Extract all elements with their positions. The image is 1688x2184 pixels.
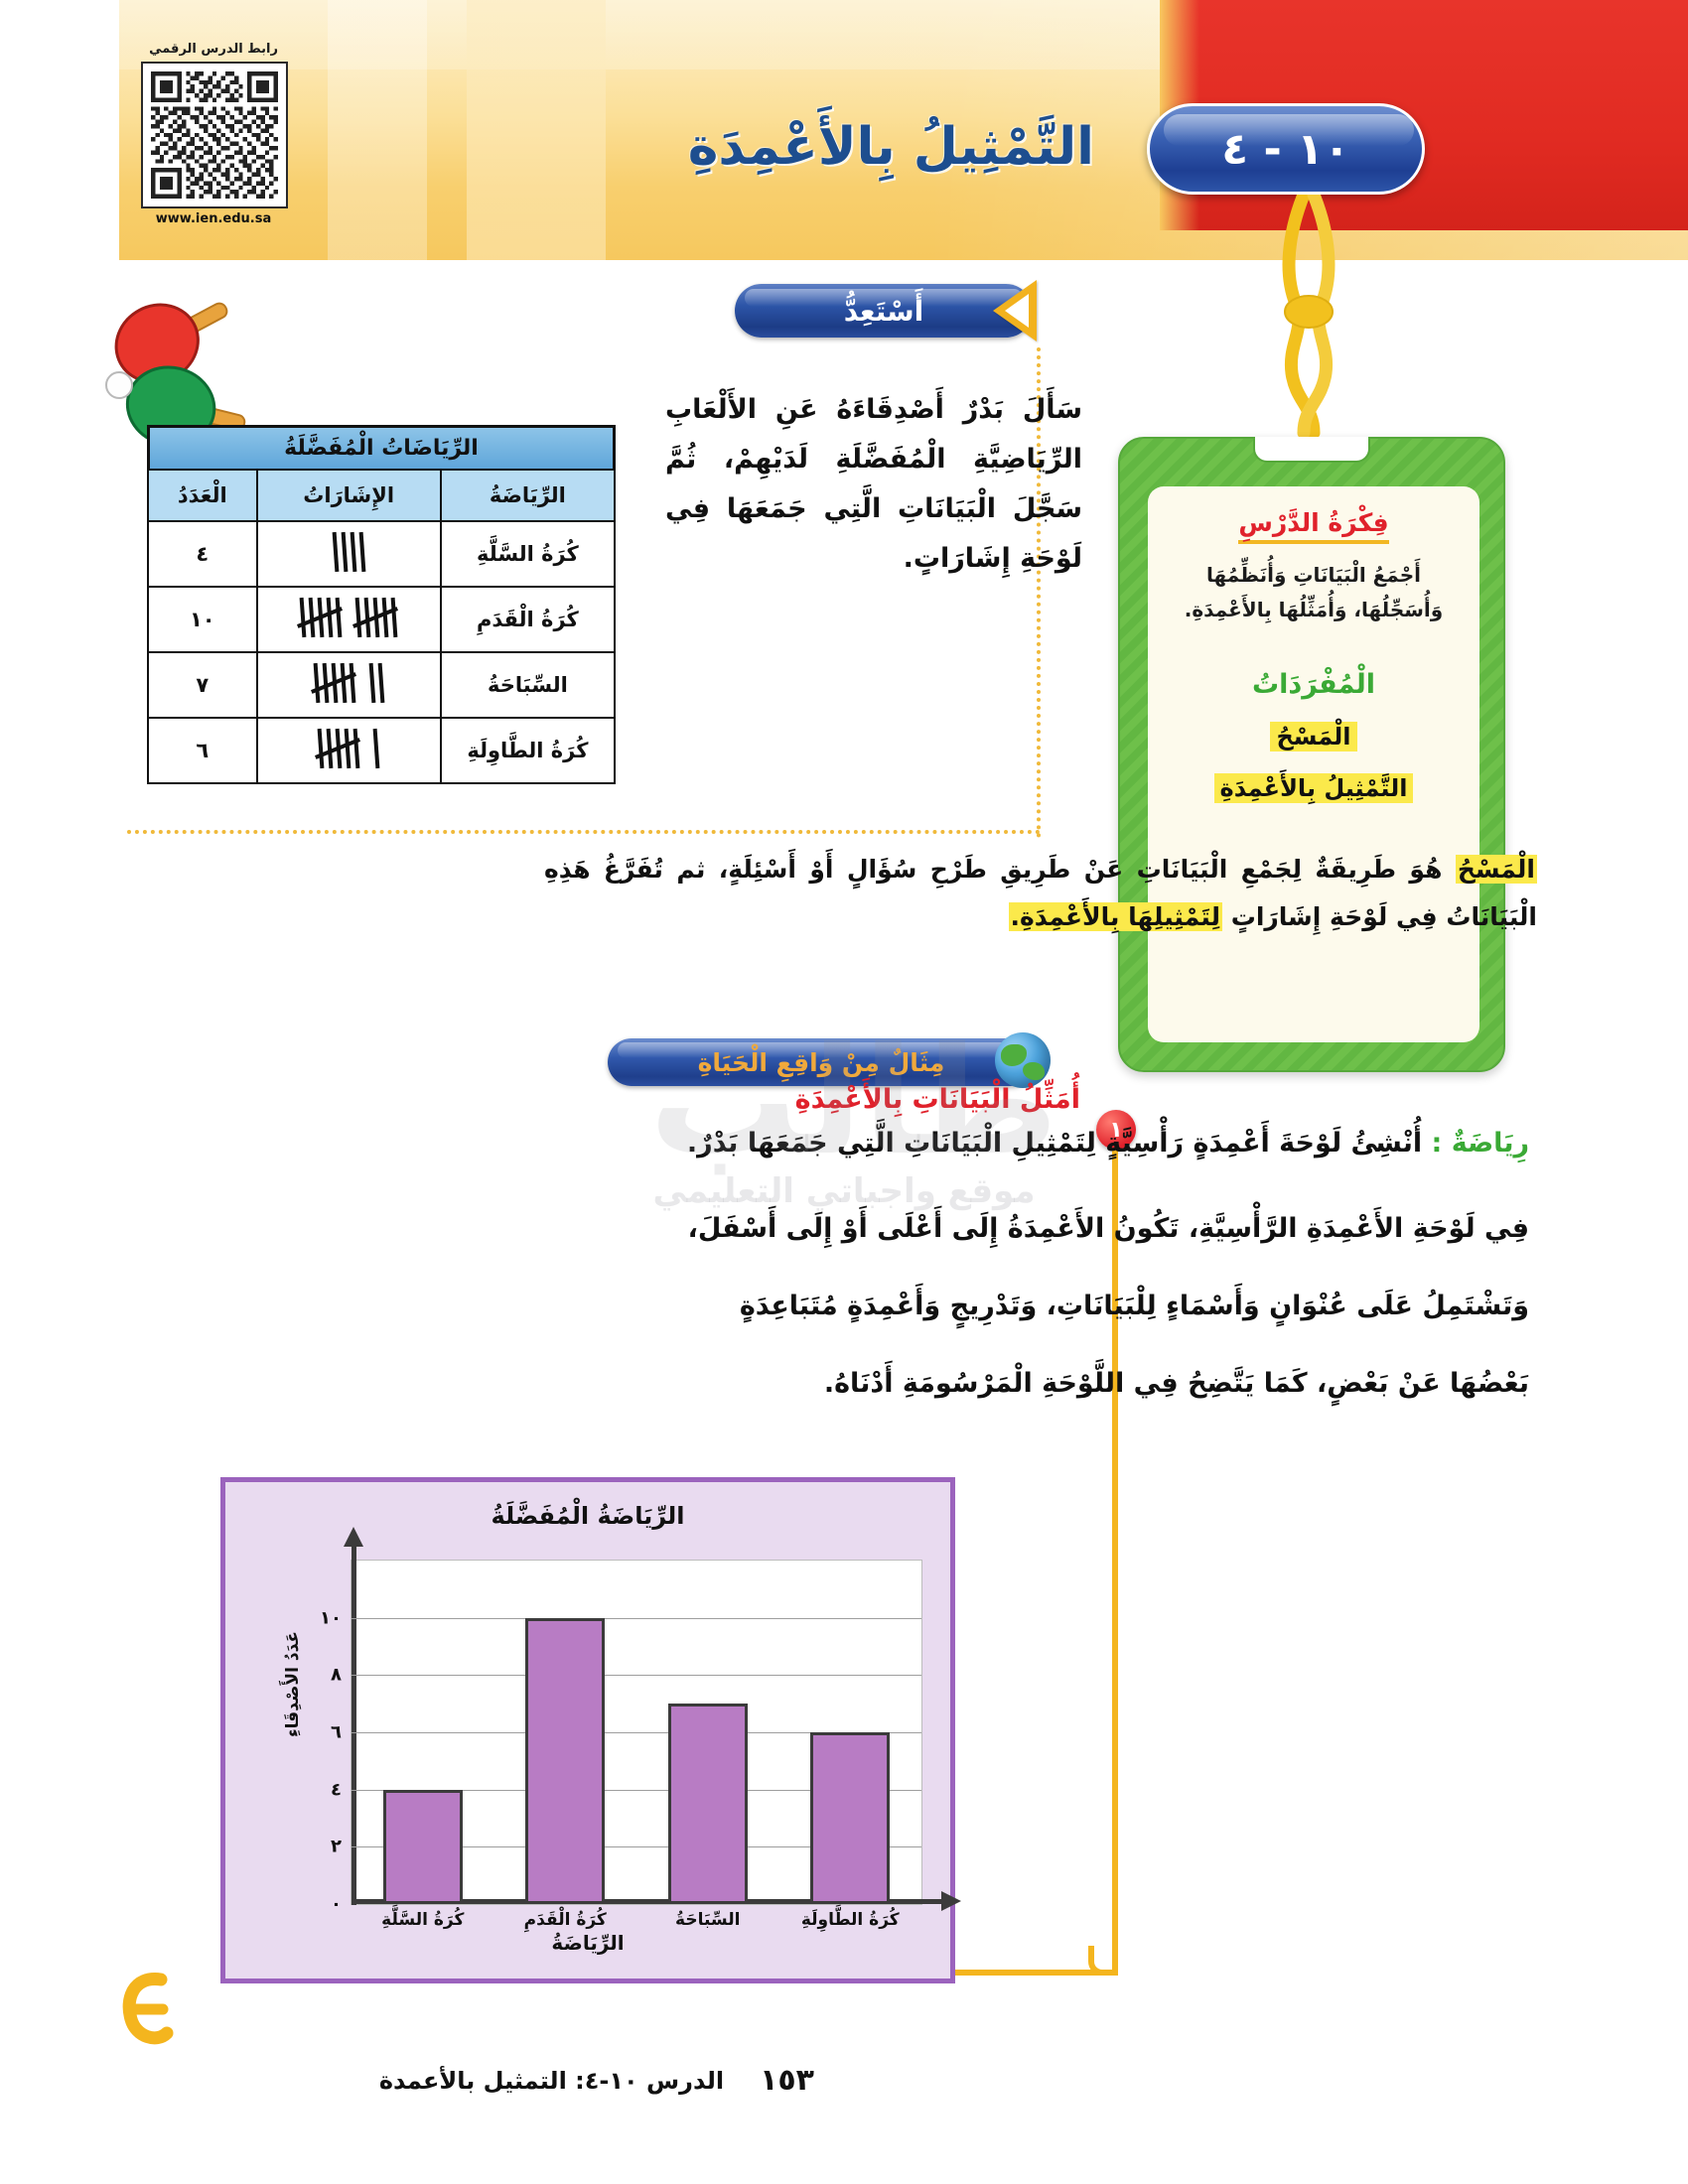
chart-x-tick-label: كُرَةُ الْقَدَمِ <box>524 1910 607 1930</box>
table-row: كُرَةُ الْقَدَمِ١٠ <box>148 587 615 652</box>
table-row: كُرَةُ السَّلَّةِ٤ <box>148 521 615 587</box>
prepare-paragraph: سَأَلَ بَدْرٌ أَصْدِقَاءَهُ عَنِ الأَلْع… <box>665 385 1082 584</box>
chart-bar <box>810 1732 890 1904</box>
table-row: كُرَةُ الطَّاوِلَةِ٦ <box>148 718 615 783</box>
chart-y-axis-label: عَدَدُ الأَصْدِقَاءِ <box>283 1631 303 1737</box>
footer-lesson-text: الدرس ١٠-٤: التمثيل بالأعمدة <box>379 2067 724 2095</box>
table-row: السِّبَاحَةُ٧ <box>148 652 615 718</box>
chart-y-tick-label: ٦ <box>331 1722 342 1743</box>
chart-y-tick-label-zero: ٠ <box>331 1894 342 1915</box>
table-cell-count: ٧ <box>148 652 257 718</box>
qr-code-box[interactable] <box>141 62 288 208</box>
survey-term-highlight: الْمَسْحُ <box>1456 855 1537 884</box>
digital-lesson-link[interactable]: رابط الدرس الرقمي <box>139 42 288 226</box>
globe-icon <box>995 1032 1051 1088</box>
chart-bar <box>668 1704 748 1904</box>
table-header-count: الْعَدَدُ <box>148 470 257 521</box>
qr-code-icon <box>151 71 278 199</box>
rope-hanger-icon <box>1274 195 1343 463</box>
table-header-sport: الرِّيَاضَةُ <box>441 470 615 521</box>
chart-y-axis <box>352 1545 356 1905</box>
table-cell-tally <box>257 718 441 783</box>
chart-bar <box>383 1790 463 1904</box>
table-cell-tally <box>257 521 441 587</box>
table-cell-sport: كُرَةُ الطَّاوِلَةِ <box>441 718 615 783</box>
example-line-1-text: أُنْشِئُ لَوْحَةَ أَعْمِدَةٍ رَأْسِيَّةٍ… <box>687 1128 1422 1159</box>
page-title: التَّمْثِيلُ بِالأَعْمِدَةِ <box>688 117 1094 177</box>
real-life-example-banner: مِثَالٌ مِنْ وَاقِعِ الْحَيَاةِ <box>608 1038 1035 1086</box>
prepare-arrow-inner-icon <box>1005 294 1029 328</box>
lesson-idea-heading: فِكْرَةُ الدَّرْسِ <box>1238 508 1388 544</box>
chart-y-tick-label: ٨ <box>331 1665 342 1686</box>
lesson-number-text: ١٠ - ٤ <box>1221 124 1349 175</box>
table-body: كُرَةُ السَّلَّةِ٤كُرَةُ الْقَدَمِ١٠السِ… <box>148 521 615 783</box>
favorite-sports-table: الرِّيَاضَاتُ الْمُفَضَّلَةُ الرِّيَاضَة… <box>147 425 616 784</box>
example-connector-line <box>1112 1150 1118 1976</box>
table-cell-count: ٦ <box>148 718 257 783</box>
real-life-example-label: مِثَالٌ مِنْ وَاقِعِ الْحَيَاةِ <box>698 1048 945 1077</box>
chart-title: الرِّيَاضَةُ الْمُفَضَّلَةُ <box>225 1502 950 1530</box>
chart-y-tick-label: ١٠ <box>320 1607 342 1628</box>
survey-bargraph-highlight: لِتَمْثِيلِهَا بِالأَعْمِدَةِ. <box>1009 902 1223 931</box>
example-line-1: رِيَاضَةٌ : أُنْشِئُ لَوْحَةَ أَعْمِدَةٍ… <box>606 1118 1529 1170</box>
table-cell-count: ١٠ <box>148 587 257 652</box>
table-element: الرِّيَاضَةُ الإِشَارَاتُ الْعَدَدُ كُرَ… <box>147 469 616 784</box>
page-number: ١٥٣ <box>760 2063 814 2098</box>
chart-x-tick-label: كُرَةُ السَّلَّةِ <box>381 1910 464 1930</box>
table-header-row: الرِّيَاضَةُ الإِشَارَاتُ الْعَدَدُ <box>148 470 615 521</box>
chart-bar <box>525 1618 605 1904</box>
chart-x-tick-label: كُرَةُ الطَّاوِلَةِ <box>801 1910 900 1930</box>
table-cell-tally <box>257 652 441 718</box>
lesson-idea-card: فِكْرَةُ الدَّرْسِ أَجْمَعُ الْبَيَانَات… <box>1118 437 1505 1072</box>
example-subject-tag: رِيَاضَةٌ : <box>1432 1128 1529 1159</box>
publisher-logo-icon <box>117 1966 177 2053</box>
vocabulary-term-2: التَّمْثِيلُ بِالأَعْمِدَةِ <box>1214 773 1414 803</box>
table-cell-sport: كُرَةُ الْقَدَمِ <box>441 587 615 652</box>
example-red-title: أُمَثِّلُ الْبَيَانَاتِ بِالأَعْمِدَةِ <box>795 1084 1080 1115</box>
table-title: الرِّيَاضَاتُ الْمُفَضَّلَةُ <box>147 425 616 469</box>
prepare-banner-label: أَسْتَعِدُّ <box>844 295 924 328</box>
textbook-page: رابط الدرس الرقمي <box>0 0 1688 2184</box>
example-line-2: فِي لَوْحَةِ الأَعْمِدَةِ الرَّأْسِيَّةِ… <box>606 1203 1529 1256</box>
example-line-3: وَتَشْتَمِلُ عَلَى عُنْوَانٍ وَأَسْمَاءٍ… <box>606 1281 1529 1333</box>
table-cell-tally <box>257 587 441 652</box>
chart-gridline <box>352 1675 921 1676</box>
qr-caption: رابط الدرس الرقمي <box>139 42 288 57</box>
vocabulary-term-1: الْمَسْحُ <box>1270 722 1356 751</box>
example-line-4: بَعْضُهَا عَنْ بَعْضٍ، كَمَا يَتَّضِحُ ف… <box>606 1358 1529 1411</box>
lesson-idea-card-inner: فِكْرَةُ الدَّرْسِ أَجْمَعُ الْبَيَانَات… <box>1148 486 1479 1042</box>
bar-chart-panel: الرِّيَاضَةُ الْمُفَضَّلَةُ ٢٤٦٨١٠٠كُرَة… <box>220 1477 955 1983</box>
chart-x-tick-label: السِّبَاحَةُ <box>675 1910 740 1930</box>
prepare-banner: أَسْتَعِدُّ <box>735 284 1033 338</box>
survey-definition-paragraph: الْمَسْحُ هُوَ طَرِيقَةٌ لِجَمْعِ الْبَي… <box>544 846 1537 940</box>
banner-white-margin <box>0 0 119 260</box>
lesson-idea-body: أَجْمَعُ الْبَيَانَاتِ وَأُنَظِّمُهَا وَ… <box>1166 558 1462 627</box>
table-cell-count: ٤ <box>148 521 257 587</box>
chart-gridline <box>352 1618 921 1619</box>
chart-x-axis-label: الرِّيَاضَةُ <box>225 1931 950 1955</box>
table-cell-sport: السِّبَاحَةُ <box>441 652 615 718</box>
table-header-tally: الإِشَارَاتُ <box>257 470 441 521</box>
card-hanging-hole <box>1253 437 1370 463</box>
page-footer: ١٥٣ الدرس ١٠-٤: التمثيل بالأعمدة <box>119 2063 814 2098</box>
chart-y-tick-label: ٢ <box>331 1837 342 1857</box>
vocabulary-heading: الْمُفْرَدَاتُ <box>1166 669 1462 700</box>
qr-url-text: www.ien.edu.sa <box>139 211 288 226</box>
table-cell-sport: كُرَةُ السَّلَّةِ <box>441 521 615 587</box>
chart-plot-area: ٢٤٦٨١٠٠كُرَةُ الطَّاوِلَةِالسِّبَاحَةُكُ… <box>351 1560 922 1905</box>
chart-y-tick-label: ٤ <box>331 1779 342 1800</box>
lesson-number-badge: ١٠ - ٤ <box>1147 103 1425 195</box>
